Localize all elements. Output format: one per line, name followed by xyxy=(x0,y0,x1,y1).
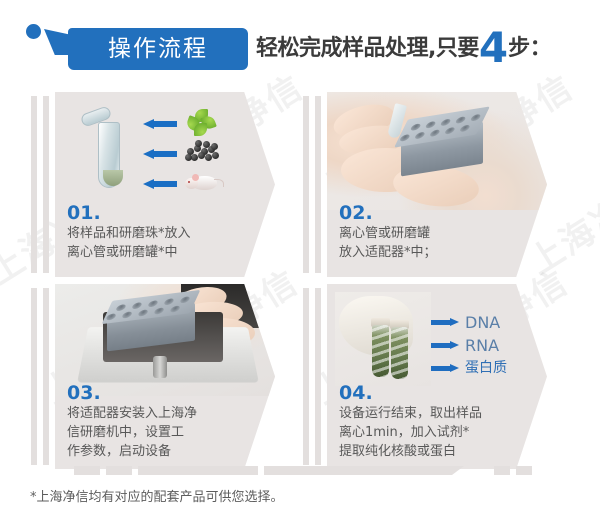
section-tag-label: 操作流程 xyxy=(68,28,248,70)
step-number: 03. xyxy=(67,382,101,404)
page-title-step-count: 4 xyxy=(479,23,508,72)
page-title-suffix: 步： xyxy=(508,36,551,61)
step-description: 将适配器安装入上海净 信研磨机中，设置工 作参数，启动设备 xyxy=(67,404,257,461)
steps-grid: 01. 将样品和研磨珠*放入 离心管或研磨罐*中 xyxy=(0,88,600,473)
gloved-hand-holding-vials-photo xyxy=(335,292,431,386)
step-description-line: 设备运行结束，取出样品 xyxy=(339,404,539,423)
step-description-line: 离心管或研磨罐*中 xyxy=(67,243,257,262)
step-number: 02. xyxy=(339,202,373,224)
sample-row-leaf xyxy=(143,114,263,132)
step-card-01[interactable]: 01. 将样品和研磨珠*放入 离心管或研磨罐*中 xyxy=(30,92,275,277)
step-number: 04. xyxy=(339,382,373,404)
step-description-line: 提取纯化核酸或蛋白 xyxy=(339,442,539,461)
mouse-tail xyxy=(214,179,224,187)
footer-strip xyxy=(0,466,600,475)
card-accent-bar xyxy=(303,288,309,465)
arrow-right-icon xyxy=(431,318,459,327)
tube-body xyxy=(98,122,120,188)
step-description: 将样品和研磨珠*放入 离心管或研磨罐*中 xyxy=(67,224,257,262)
hand-holding-adapter-block-photo xyxy=(327,92,547,210)
sample-vial-icon xyxy=(372,325,389,377)
arrow-right-icon xyxy=(431,341,459,350)
step-card-03[interactable]: 03. 将适配器安装入上海净 信研磨机中，设置工 作参数，启动设备 xyxy=(30,284,275,469)
step-description: 离心管或研磨罐 放入适配器*中； xyxy=(339,224,529,262)
sample-vial-icon xyxy=(391,327,408,379)
mouse-eye xyxy=(188,181,190,183)
arrow-left-icon xyxy=(143,149,177,158)
bullet-dot-icon xyxy=(26,24,41,39)
card-accent-bar xyxy=(31,288,37,465)
card-accent-bar xyxy=(315,96,321,273)
step-card-body: DNA RNA 蛋白质 04. 设备运行结束，取出样品 离心1min，加入试剂*… xyxy=(327,284,547,469)
step-description-line: 离心1min，加入试剂* xyxy=(339,423,539,442)
step-card-04[interactable]: DNA RNA 蛋白质 04. 设备运行结束，取出样品 离心1min，加入试剂*… xyxy=(302,284,547,469)
legend-label: RNA xyxy=(465,335,499,356)
centrifuge-tube-icon xyxy=(95,110,121,188)
step-description-line: 将适配器安装入上海净 xyxy=(67,404,257,423)
page-header: 操作流程 轻松完成样品处理,只要4步： xyxy=(0,0,600,88)
footer-note: *上海净信均有对应的配套产品可供您选择。 xyxy=(30,486,284,505)
leaf-icon xyxy=(187,109,217,137)
sample-row-mouse xyxy=(143,174,263,192)
card-accent-bar xyxy=(315,288,321,465)
sample-row-beads xyxy=(143,144,263,162)
step-description-line: 放入适配器*中； xyxy=(339,243,529,262)
arrow-left-icon xyxy=(143,119,177,128)
step-description-line: 信研磨机中，设置工 xyxy=(67,423,257,442)
page-title: 轻松完成样品处理,只要4步： xyxy=(256,30,551,62)
mouse-icon xyxy=(185,170,221,194)
legend-label: DNA xyxy=(465,312,500,333)
hand-installing-adapter-in-grinder-photo xyxy=(55,284,275,396)
tube-sample-fill xyxy=(103,170,123,186)
step-description: 设备运行结束，取出样品 离心1min，加入试剂* 提取纯化核酸或蛋白 xyxy=(339,404,539,461)
legend-label: 蛋白质 xyxy=(465,358,507,379)
section-tag: 操作流程 xyxy=(68,28,248,70)
step-card-body: 03. 将适配器安装入上海净 信研磨机中，设置工 作参数，启动设备 xyxy=(55,284,275,469)
step-description-line: 作参数，启动设备 xyxy=(67,442,257,461)
mouse-ear xyxy=(192,174,199,181)
card-accent-bar xyxy=(31,96,37,273)
grinder-shaft xyxy=(153,356,167,378)
arrow-right-icon xyxy=(431,364,459,373)
step-card-body: 02. 离心管或研磨罐 放入适配器*中； xyxy=(327,92,547,277)
step-description-line: 将样品和研磨珠*放入 xyxy=(67,224,257,243)
step-card-02[interactable]: 02. 离心管或研磨罐 放入适配器*中； xyxy=(302,92,547,277)
step-number: 01. xyxy=(67,202,101,224)
page-title-prefix: 轻松完成样品处理,只要 xyxy=(256,36,479,61)
step-card-body: 01. 将样品和研磨珠*放入 离心管或研磨罐*中 xyxy=(55,92,275,277)
card-accent-bar xyxy=(303,96,309,273)
arrow-left-icon xyxy=(143,179,177,188)
card-accent-bar xyxy=(43,96,49,273)
card-accent-bar xyxy=(43,288,49,465)
step-description-line: 离心管或研磨罐 xyxy=(339,224,529,243)
grinding-beads-icon xyxy=(185,140,219,164)
